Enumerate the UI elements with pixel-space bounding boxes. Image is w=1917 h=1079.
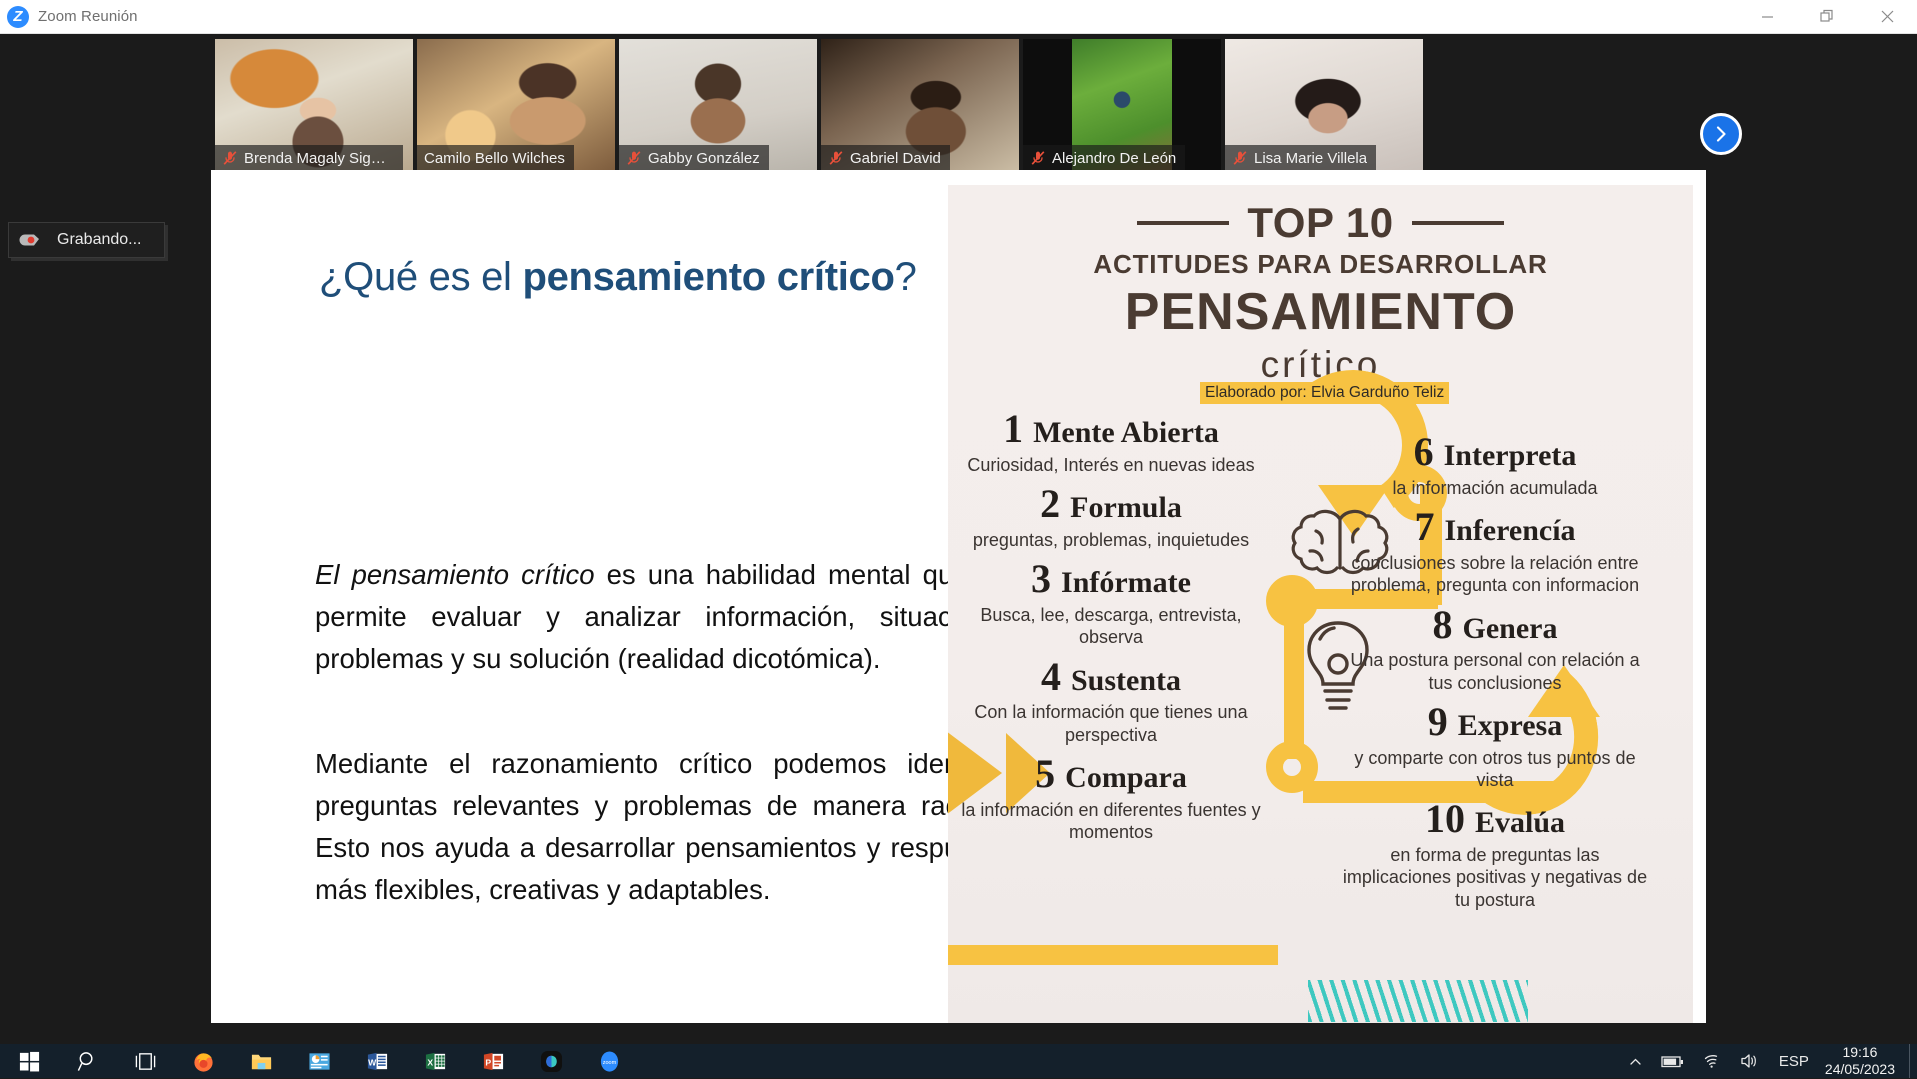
infographic-heading-sub: ACTITUDES PARA DESARROLLAR xyxy=(948,249,1693,280)
infographic-item: 9 Expresa y comparte con otros tus punto… xyxy=(1340,700,1650,791)
infographic-item-heading: 4 Sustenta xyxy=(956,655,1266,700)
recording-label: Grabando... xyxy=(57,231,142,249)
zoom-logo-icon xyxy=(7,6,29,28)
zoom-app-button[interactable]: zoom xyxy=(580,1044,638,1078)
window-titlebar: Zoom Reunión xyxy=(0,0,1917,34)
recording-indicator[interactable]: Grabando... xyxy=(8,222,165,258)
participant-name: Camilo Bello Wilches xyxy=(424,150,565,167)
participant-name: Gabriel David xyxy=(850,150,941,167)
infographic-item-heading: 10 Evalúa xyxy=(1340,797,1650,842)
infographic-item-title: Mente Abierta xyxy=(1033,416,1219,450)
heading-rule-left xyxy=(1137,221,1229,225)
infographic-item-description: conclusiones sobre la relación entre pro… xyxy=(1340,552,1650,597)
search-icon xyxy=(76,1050,99,1073)
word-icon: W xyxy=(366,1050,389,1073)
infographic-heading-top-row: TOP 10 xyxy=(948,199,1693,247)
infographic-item-description: en forma de preguntas las implicaciones … xyxy=(1340,844,1650,911)
infographic-item-heading: 2 Formula xyxy=(956,482,1266,527)
infographic-item-heading: 1 Mente Abierta xyxy=(956,407,1266,452)
participant-name: Alejandro De León xyxy=(1052,150,1176,167)
clock-date: 24/05/2023 xyxy=(1825,1061,1895,1079)
microphone-muted-icon xyxy=(1232,150,1248,166)
office-app-icon xyxy=(308,1050,331,1073)
participant-name: Lisa Marie Villela xyxy=(1254,150,1367,167)
microphone-muted-icon xyxy=(1030,150,1046,166)
infographic-item: 3 Infórmate Busca, lee, descarga, entrev… xyxy=(956,557,1266,648)
infographic-heading-main: PENSAMIENTO xyxy=(948,282,1693,342)
infographic-heading: TOP 10 ACTITUDES PARA DESARROLLAR PENSAM… xyxy=(948,199,1693,386)
language-indicator[interactable]: ESP xyxy=(1769,1053,1819,1070)
window-title: Zoom Reunión xyxy=(38,8,138,25)
svg-text:X: X xyxy=(427,1057,433,1067)
clock-time: 19:16 xyxy=(1825,1044,1895,1062)
infographic-item-description: preguntas, problemas, inquietudes xyxy=(956,529,1266,551)
slide-paragraph-2: Mediante el razonamiento crítico podemos… xyxy=(315,743,1025,911)
slide-title-prefix: ¿Qué es el xyxy=(319,255,522,299)
clock[interactable]: 19:16 24/05/2023 xyxy=(1819,1044,1909,1079)
start-button[interactable] xyxy=(0,1044,58,1078)
infographic-item: 2 Formula preguntas, problemas, inquietu… xyxy=(956,482,1266,551)
infographic-right-column: 6 Interpreta la información acumulada 7 … xyxy=(1340,430,1650,917)
show-desktop-button[interactable] xyxy=(1909,1044,1917,1078)
close-button[interactable] xyxy=(1857,0,1917,33)
task-view-icon xyxy=(134,1050,157,1073)
infographic-item-number: 7 xyxy=(1414,505,1434,550)
infographic-item-title: Interpreta xyxy=(1444,439,1577,473)
infographic-item-title: Formula xyxy=(1070,491,1182,525)
infographic-item-description: la información en diferentes fuentes y m… xyxy=(956,799,1266,844)
svg-text:W: W xyxy=(368,1057,377,1067)
infographic-item: 10 Evalúa en forma de preguntas las impl… xyxy=(1340,797,1650,911)
minimize-button[interactable] xyxy=(1737,0,1797,33)
slide-paragraph-1-italic: El pensamiento crítico xyxy=(315,559,595,590)
chevron-right-icon xyxy=(1711,124,1731,144)
infographic-item-description: la información acumulada xyxy=(1340,477,1650,499)
task-view-button[interactable] xyxy=(116,1044,174,1078)
firefox-icon xyxy=(192,1050,215,1073)
participant-name-bar: Alejandro De León xyxy=(1023,145,1185,171)
infographic-item-heading: 5 Compara xyxy=(956,752,1266,797)
office-app-button[interactable] xyxy=(290,1044,348,1078)
battery-status-button[interactable] xyxy=(1652,1054,1694,1069)
infographic-item: 6 Interpreta la información acumulada xyxy=(1340,430,1650,499)
infographic-item-title: Infórmate xyxy=(1061,566,1191,600)
excel-icon: X xyxy=(424,1050,447,1073)
infographic-item-number: 8 xyxy=(1433,603,1453,648)
infographic-item-title: Expresa xyxy=(1458,709,1562,743)
infographic-item-heading: 3 Infórmate xyxy=(956,557,1266,602)
windows-taskbar: W X P xyxy=(0,1044,1917,1078)
infographic-item: 7 Inferencía conclusiones sobre la relac… xyxy=(1340,505,1650,596)
microphone-muted-icon xyxy=(626,150,642,166)
file-explorer-button[interactable] xyxy=(232,1044,290,1078)
window-controls xyxy=(1737,0,1917,33)
tray-expand-button[interactable] xyxy=(1619,1054,1652,1069)
infographic-item-number: 4 xyxy=(1041,655,1061,700)
infographic-item-heading: 9 Expresa xyxy=(1340,700,1650,745)
infographic-item-title: Genera xyxy=(1463,612,1558,646)
infographic-item-number: 6 xyxy=(1414,430,1434,475)
infographic-credit: Elaborado por: Elvia Garduño Teliz xyxy=(1200,382,1449,404)
infographic-item-heading: 8 Genera xyxy=(1340,603,1650,648)
file-explorer-icon xyxy=(250,1050,273,1073)
teams-icon xyxy=(540,1050,563,1073)
infographic-item-number: 5 xyxy=(1035,752,1055,797)
chevron-up-icon xyxy=(1628,1054,1643,1069)
infographic-item: 4 Sustenta Con la información que tienes… xyxy=(956,655,1266,746)
infographic-left-column: 1 Mente Abierta Curiosidad, Interés en n… xyxy=(956,407,1266,849)
system-tray: ESP 19:16 24/05/2023 xyxy=(1619,1044,1917,1078)
infographic-item-title: Evalúa xyxy=(1475,806,1565,840)
microphone-muted-icon xyxy=(222,150,238,166)
infographic-item-number: 3 xyxy=(1031,557,1051,602)
participant-name-bar: Gabriel David xyxy=(821,145,950,171)
infographic-item-heading: 6 Interpreta xyxy=(1340,430,1650,475)
volume-button[interactable] xyxy=(1731,1053,1769,1069)
wifi-status-button[interactable] xyxy=(1694,1053,1731,1069)
infographic-item: 5 Compara la información en diferentes f… xyxy=(956,752,1266,843)
infographic-item-number: 2 xyxy=(1040,482,1060,527)
powerpoint-icon: P xyxy=(482,1050,505,1073)
participant-name: Brenda Magaly Sigüin... xyxy=(244,150,394,167)
participant-name-bar: Camilo Bello Wilches xyxy=(417,145,574,171)
svg-text:zoom: zoom xyxy=(602,1059,616,1065)
infographic-item-number: 10 xyxy=(1425,797,1465,842)
filmstrip-next-page-button[interactable] xyxy=(1700,113,1742,155)
hatch-decoration xyxy=(1308,980,1528,1022)
participant-tile[interactable]: Brenda Magaly Sigüin... xyxy=(215,39,413,171)
windows-start-icon xyxy=(18,1050,41,1073)
excel-button[interactable]: X xyxy=(406,1044,464,1078)
infographic-item-number: 9 xyxy=(1428,700,1448,745)
infographic-item-number: 1 xyxy=(1003,407,1023,452)
participant-name-bar: Brenda Magaly Sigüin... xyxy=(215,145,403,171)
participant-tile[interactable]: Gabby González xyxy=(619,39,817,171)
infographic-item-description: Curiosidad, Interés en nuevas ideas xyxy=(956,454,1266,476)
infographic-item: 1 Mente Abierta Curiosidad, Interés en n… xyxy=(956,407,1266,476)
participant-tile[interactable]: Alejandro De León xyxy=(1023,39,1221,171)
slide-paragraph-1: El pensamiento crítico es una habilidad … xyxy=(315,554,1025,680)
infographic-item: 8 Genera Una postura personal con relaci… xyxy=(1340,603,1650,694)
zoom-app-icon: zoom xyxy=(598,1050,621,1073)
teams-button[interactable] xyxy=(522,1044,580,1078)
shared-screen-slide: ¿Qué es el pensamiento crítico? El pensa… xyxy=(211,170,1706,1023)
restore-button[interactable] xyxy=(1797,0,1857,33)
wifi-icon xyxy=(1703,1053,1722,1069)
microphone-muted-icon xyxy=(828,150,844,166)
participant-tile[interactable]: Lisa Marie Villela xyxy=(1225,39,1423,171)
infographic-item-description: Busca, lee, descarga, entrevista, observ… xyxy=(956,604,1266,649)
participant-filmstrip: Brenda Magaly Sigüin... Camilo Bello Wil… xyxy=(215,39,1423,171)
participant-name: Gabby González xyxy=(648,150,760,167)
word-button[interactable]: W xyxy=(348,1044,406,1078)
infographic-heading-top: TOP 10 xyxy=(1247,199,1393,247)
infographic-image: TOP 10 ACTITUDES PARA DESARROLLAR PENSAM… xyxy=(948,185,1693,1023)
volume-icon xyxy=(1740,1053,1760,1069)
participant-name-bar: Lisa Marie Villela xyxy=(1225,145,1376,171)
heading-rule-right xyxy=(1412,221,1504,225)
infographic-item-heading: 7 Inferencía xyxy=(1340,505,1650,550)
bottom-bar-decoration xyxy=(948,945,1278,965)
infographic-item-title: Inferencía xyxy=(1444,514,1575,548)
participant-tile-active-speaker[interactable]: Camilo Bello Wilches xyxy=(417,39,615,171)
taskbar-search-button[interactable] xyxy=(58,1044,116,1078)
battery-icon xyxy=(1661,1054,1685,1069)
infographic-item-title: Sustenta xyxy=(1071,664,1181,698)
zoom-meeting-window: Brenda Magaly Sigüin... Camilo Bello Wil… xyxy=(0,34,1917,1044)
slide-title-suffix: ? xyxy=(895,255,917,299)
svg-text:P: P xyxy=(485,1057,491,1067)
participant-tile[interactable]: Gabriel David xyxy=(821,39,1019,171)
firefox-button[interactable] xyxy=(174,1044,232,1078)
participant-name-bar: Gabby González xyxy=(619,145,769,171)
record-indicator-icon xyxy=(19,230,45,250)
infographic-item-title: Compara xyxy=(1065,761,1187,795)
infographic-item-description: Con la información que tienes una perspe… xyxy=(956,701,1266,746)
infographic-item-description: Una postura personal con relación a tus … xyxy=(1340,649,1650,694)
infographic-item-description: y comparte con otros tus puntos de vista xyxy=(1340,747,1650,792)
powerpoint-button[interactable]: P xyxy=(464,1044,522,1078)
slide-title-emphasis: pensamiento crítico xyxy=(522,255,894,299)
